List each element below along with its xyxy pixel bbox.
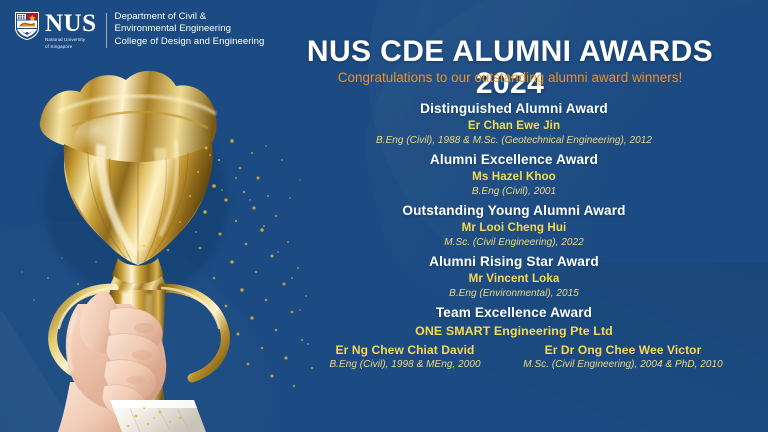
team-members-row: Er Ng Chew Chiat David B.Eng (Civil), 19… <box>272 342 756 372</box>
award-block-outstanding-young: Outstanding Young Alumni Award Mr Looi C… <box>272 201 756 250</box>
department-name: Department of Civil & Environmental Engi… <box>115 11 265 48</box>
team-member: Er Dr Ong Chee Wee Victor M.Sc. (Civil E… <box>523 342 723 372</box>
department-line-2: Environmental Engineering <box>115 23 265 35</box>
award-degree: M.Sc. (Civil Engineering), 2022 <box>272 236 756 250</box>
award-recipient: Mr Vincent Loka <box>272 271 756 287</box>
team-member-degree: M.Sc. (Civil Engineering), 2004 & PhD, 2… <box>523 358 723 372</box>
award-title: Outstanding Young Alumni Award <box>272 201 756 220</box>
team-member-name: Er Ng Chew Chiat David <box>305 342 505 358</box>
trophy-base <box>110 400 206 432</box>
award-block-distinguished: Distinguished Alumni Award Er Chan Ewe J… <box>272 99 756 148</box>
award-block-rising-star: Alumni Rising Star Award Mr Vincent Loka… <box>272 252 756 301</box>
award-recipient: Ms Hazel Khoo <box>272 169 756 185</box>
department-line-1: Department of Civil & <box>115 11 265 23</box>
awards-poster: NUS National University of Singapore Dep… <box>0 0 768 432</box>
award-title: Team Excellence Award <box>272 303 756 322</box>
award-title: Alumni Excellence Award <box>272 150 756 169</box>
nus-brand-lockup: NUS National University of Singapore Dep… <box>14 11 264 50</box>
award-title: Alumni Rising Star Award <box>272 252 756 271</box>
team-member-degree: B.Eng (Civil), 1998 & MEng, 2000 <box>305 358 505 372</box>
award-title: Distinguished Alumni Award <box>272 99 756 118</box>
award-recipient: Mr Looi Cheng Hui <box>272 220 756 236</box>
awards-list: Distinguished Alumni Award Er Chan Ewe J… <box>272 99 756 374</box>
award-degree: B.Eng (Civil), 2001 <box>272 185 756 199</box>
award-recipient: Er Chan Ewe Jin <box>272 118 756 134</box>
trophy-artwork <box>18 52 254 432</box>
award-degree: B.Eng (Environmental), 2015 <box>272 287 756 301</box>
award-degree: B.Eng (Civil), 1988 & M.Sc. (Geotechnica… <box>272 134 756 148</box>
nus-acronym: NUS <box>45 11 97 36</box>
award-block-team-excellence: Team Excellence Award ONE SMART Engineer… <box>272 303 756 372</box>
award-organisation: ONE SMART Engineering Pte Ltd <box>272 322 756 340</box>
nus-fullname-line2: of Singapore <box>45 44 97 50</box>
brand-divider <box>106 13 107 48</box>
page-title: NUS CDE ALUMNI AWARDS 2024 <box>270 36 750 100</box>
team-member: Er Ng Chew Chiat David B.Eng (Civil), 19… <box>305 342 505 372</box>
team-member-name: Er Dr Ong Chee Wee Victor <box>523 342 723 358</box>
department-line-3: College of Design and Engineering <box>115 36 265 48</box>
nus-crest-icon <box>14 11 40 41</box>
award-block-excellence: Alumni Excellence Award Ms Hazel Khoo B.… <box>272 150 756 199</box>
nus-fullname-line1: National University <box>45 37 97 43</box>
page-subtitle: Congratulations to our outstanding alumn… <box>270 70 750 86</box>
nus-wordmark: NUS National University of Singapore <box>45 11 97 50</box>
trophy-illustration <box>18 52 254 432</box>
